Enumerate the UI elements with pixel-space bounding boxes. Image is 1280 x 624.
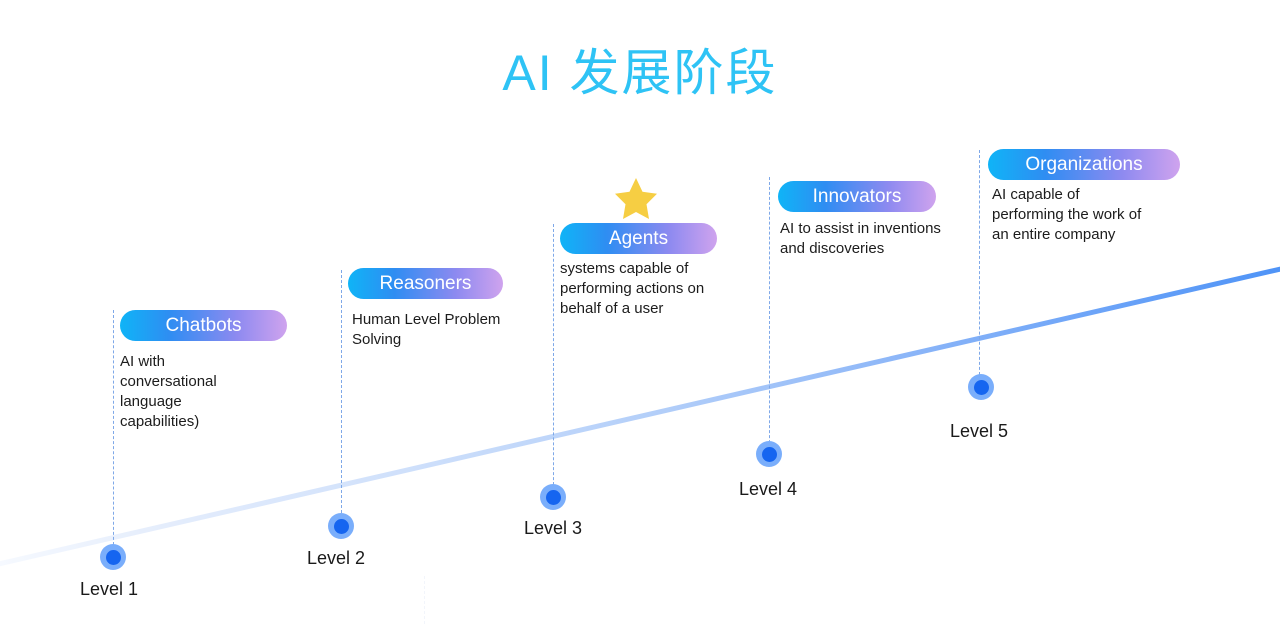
stage-pill-label-agents: Agents — [609, 228, 668, 250]
stage-pill-agents[interactable]: Agents — [560, 223, 717, 254]
stage-pill-innovators[interactable]: Innovators — [778, 181, 936, 212]
stage-description-agents: systems capable of performing actions on… — [560, 259, 760, 319]
stage-description-chatbots: AI with conversational language capabili… — [120, 352, 300, 432]
level-label-3: Level 3 — [524, 517, 582, 539]
stage-pill-label-reasoners: Reasoners — [380, 273, 472, 295]
stage-pill-label-chatbots: Chatbots — [165, 315, 241, 337]
star-icon — [613, 176, 659, 220]
connector-level-2 — [341, 270, 342, 518]
connector-level-1 — [113, 310, 114, 550]
slide-canvas: AI 发展阶段 Level 1 Level 2 Level 3 Level 4 … — [0, 0, 1280, 624]
level-label-5: Level 5 — [950, 420, 1008, 442]
stage-description-reasoners: Human Level Problem Solving — [352, 310, 552, 350]
stage-pill-reasoners[interactable]: Reasoners — [348, 268, 503, 299]
connector-level-5 — [979, 150, 980, 380]
stage-pill-organizations[interactable]: Organizations — [988, 149, 1180, 180]
connector-level-4 — [769, 177, 770, 453]
stage-pill-label-organizations: Organizations — [1025, 154, 1142, 176]
level-label-2: Level 2 — [307, 547, 365, 569]
milestone-dot-level-4[interactable] — [756, 441, 782, 467]
milestone-dot-level-5[interactable] — [968, 374, 994, 400]
connector-decorative-faint — [424, 576, 425, 624]
milestone-dot-level-2[interactable] — [328, 513, 354, 539]
level-label-4: Level 4 — [739, 478, 797, 500]
stage-pill-label-innovators: Innovators — [813, 186, 902, 208]
milestone-dot-level-3[interactable] — [540, 484, 566, 510]
page-title: AI 发展阶段 — [0, 42, 1280, 104]
level-label-1: Level 1 — [80, 578, 138, 600]
stage-description-organizations: AI capable of performing the work of an … — [992, 185, 1192, 245]
stage-pill-chatbots[interactable]: Chatbots — [120, 310, 287, 341]
connector-level-3 — [553, 224, 554, 490]
stage-description-innovators: AI to assist in inventions and discoveri… — [780, 219, 990, 259]
milestone-dot-level-1[interactable] — [100, 544, 126, 570]
